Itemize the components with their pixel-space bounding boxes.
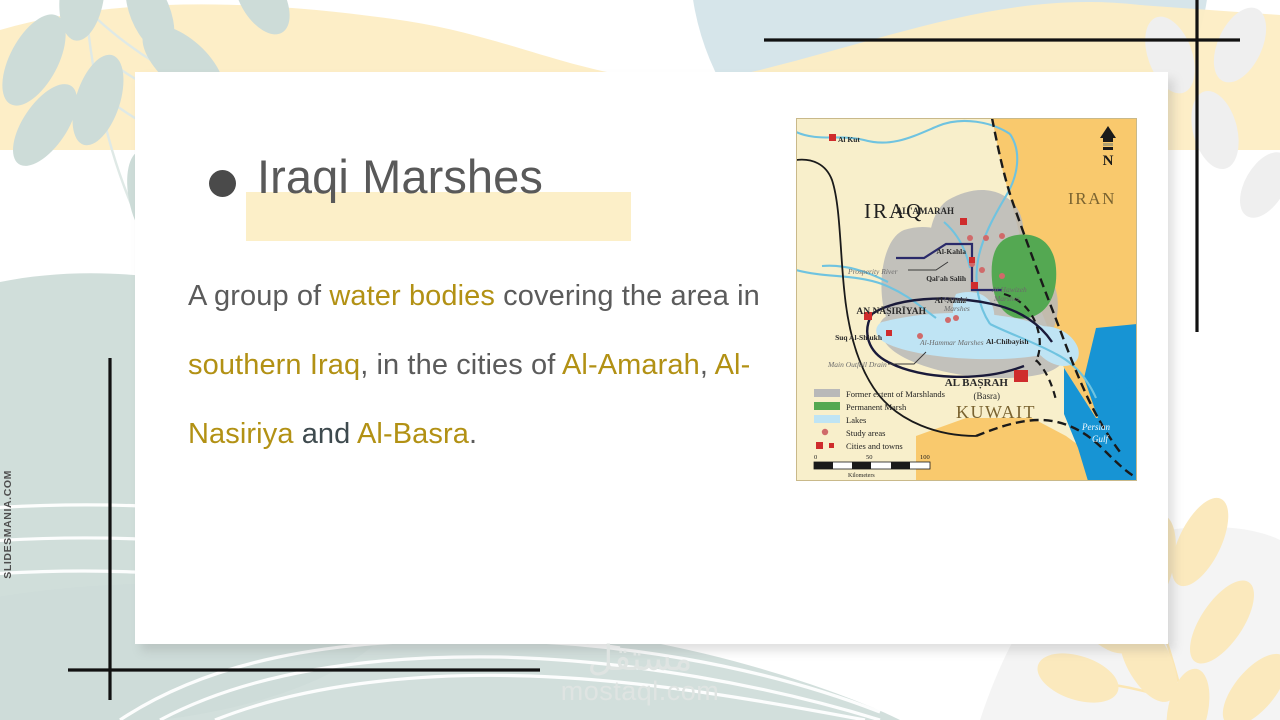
map-label-suq-al-shiukh: Suq Al-Shiukh	[835, 333, 883, 342]
slidesmania-watermark: SLIDESMANIA.COM	[2, 470, 14, 579]
legend-label-cities-towns: Cities and towns	[846, 441, 903, 451]
map-feature-outfall-drain: Main Outfall Drain	[827, 360, 887, 369]
map-feature-prosperity-river: Prosperity River	[847, 267, 898, 276]
map-label-kuwait: KUWAIT	[956, 402, 1036, 422]
map-feature-central-marshes: Central	[944, 295, 967, 304]
map-label-qalah-salih: Qal'ah Salih	[926, 274, 967, 283]
keyword-water-bodies: water bodies	[329, 280, 495, 312]
legend-label-lakes: Lakes	[846, 415, 866, 425]
bullet-point-icon	[209, 170, 236, 197]
map-label-persian-gulf-2: Gulf	[1092, 434, 1110, 444]
paragraph-segment-9: and	[294, 418, 357, 450]
keyword-al-amarah: Al-Amarah	[562, 349, 700, 381]
keyword-southern-iraq: southern Iraq	[188, 349, 360, 381]
title-row: Iraqi Marshes	[209, 150, 543, 204]
map-feature-hammar: Al-Hammar Marshes	[919, 338, 984, 347]
legend-label-permanent-marsh: Permanent Marsh	[846, 402, 907, 412]
map-label-an-nasiriyah: AN NĀṢIRĪYAH	[856, 306, 926, 317]
map-label-iran: IRAN	[1068, 189, 1116, 208]
map-label-basra: (Basra)	[974, 391, 1001, 401]
map-scale-unit: Kilometers	[848, 473, 875, 479]
map-label-persian-gulf: Persian	[1081, 422, 1110, 432]
slide-card: Iraqi Marshes A group of water bodies co…	[135, 72, 1168, 644]
map-label-al-kahla: Al-Kahla	[936, 247, 966, 256]
title-wrapper: Iraqi Marshes	[257, 150, 543, 204]
svg-text:50: 50	[866, 454, 873, 461]
svg-text:0: 0	[814, 454, 817, 461]
map-feature-hawizeh-2: Marshes	[993, 294, 1020, 303]
legend-label-study-areas: Study areas	[846, 428, 885, 438]
iraqi-marshes-map: Al Kut IRAQ IRAN KUWAIT AL 'AMARAH Al-Ka…	[796, 118, 1137, 481]
page-title: Iraqi Marshes	[257, 150, 543, 204]
map-label-al-amarah: AL 'AMARAH	[896, 206, 954, 216]
paragraph-segment-7: ,	[700, 349, 715, 381]
map-label-al-chibayish: Al-Chibayish	[986, 337, 1029, 346]
legend-label-former-extent: Former extent of Marshlands	[846, 389, 945, 399]
svg-text:100: 100	[920, 454, 930, 461]
map-feature-hawizeh: Al Hawizeh	[991, 285, 1027, 294]
map-label-al-kut: Al Kut	[838, 135, 860, 144]
paragraph-segment-11: .	[469, 418, 477, 450]
body-paragraph: A group of water bodies covering the are…	[188, 262, 793, 469]
paragraph-segment-1: A group of	[188, 280, 329, 312]
map-feature-central-marshes-2: Marshes	[943, 304, 970, 313]
paragraph-segment-3: covering the area in	[495, 280, 760, 312]
map-label-al-basrah: AL BAṢRAH	[945, 377, 1009, 389]
paragraph-segment-5: , in the cities of	[360, 349, 562, 381]
keyword-al-basra: Al-Basra	[357, 418, 469, 450]
svg-text:N: N	[1103, 153, 1114, 169]
